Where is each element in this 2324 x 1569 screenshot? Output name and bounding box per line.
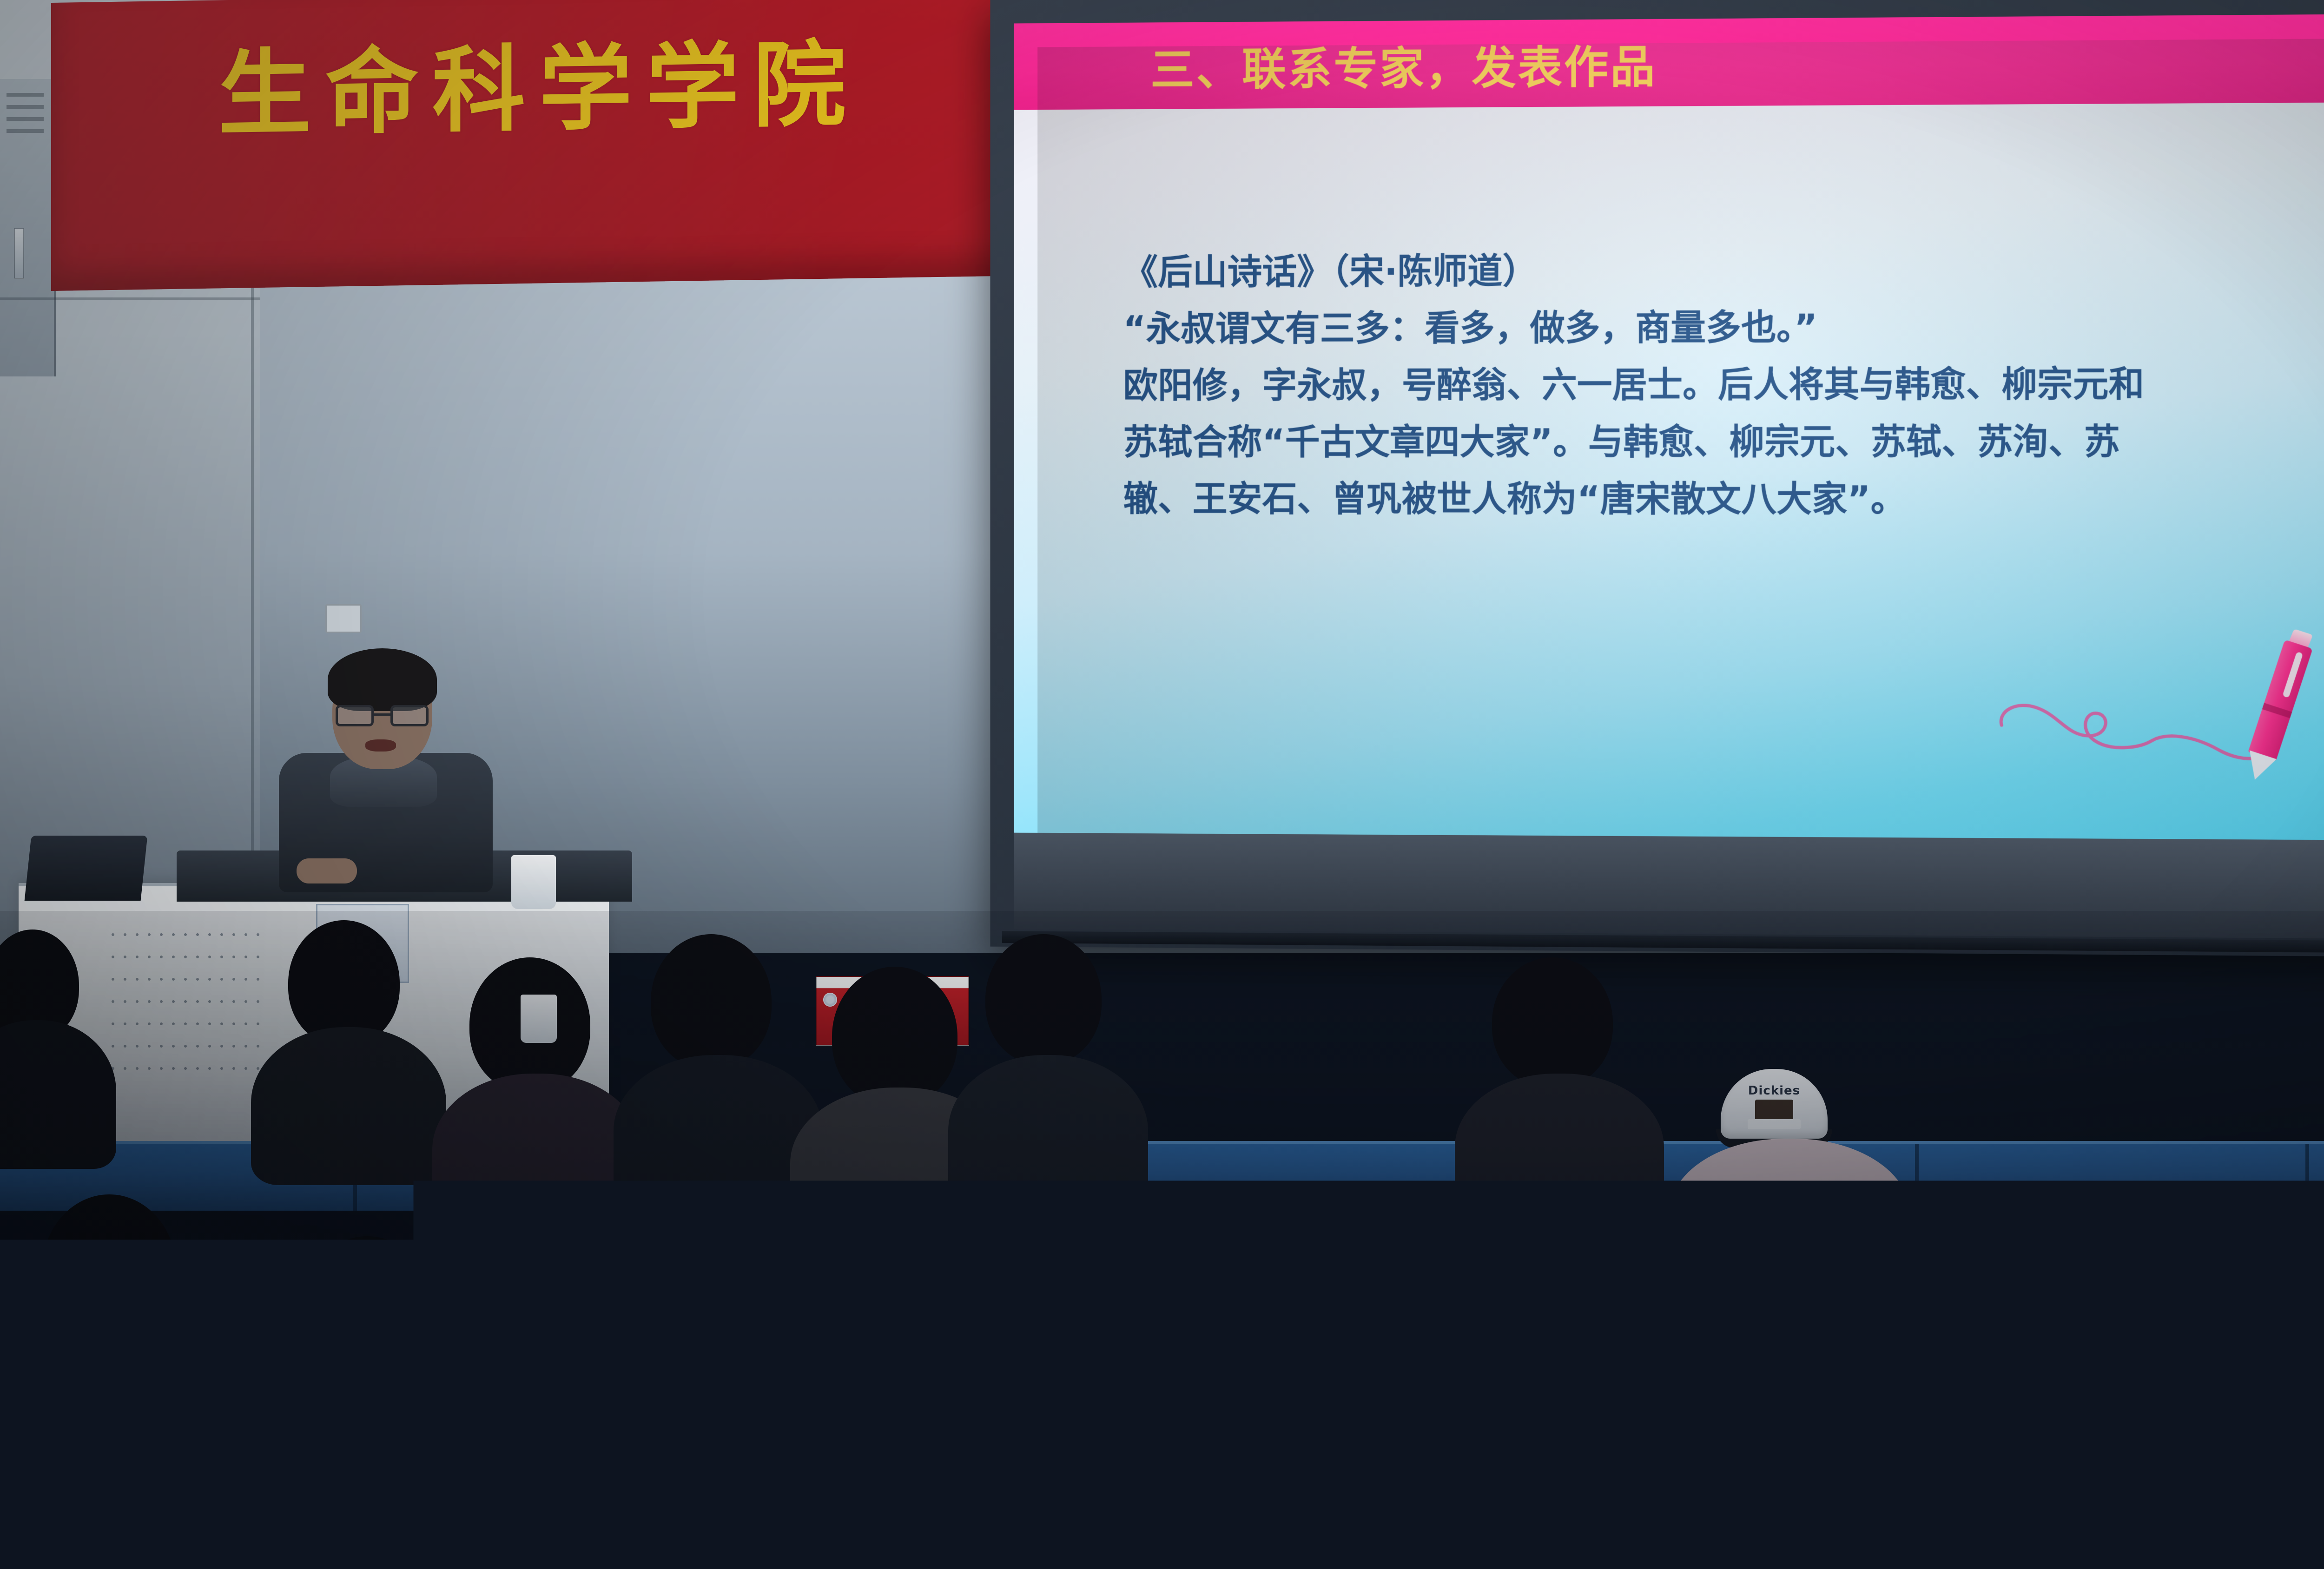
signature-scribble-icon [1997,670,2260,769]
projector-screen: 三、联系专家，发表作品 《后山诗话》（宋·陈师道） “永叔谓文有三多：看多，做多… [990,0,2324,957]
glasses-lens-right [390,705,429,726]
audience-head [1948,1199,2092,1362]
paper-cup-podium [511,855,556,909]
wall-socket [325,604,362,633]
slide-body-line-3: 欧阳修，字永叔，号醉翁、六一居士。后人将其与韩愈、柳宗元和 [1123,355,2324,414]
cap-strap [1748,1119,1801,1129]
slide-title: 三、联系专家，发表作品 [1150,30,1657,98]
audience-shoulders [251,1027,446,1185]
laptop[interactable] [25,836,148,901]
pen-body [2248,639,2313,761]
paper-cup [521,995,557,1043]
slide-body: 《后山诗话》（宋·陈师道） “永叔谓文有三多：看多，做多，商量多也。” 欧阳修，… [1123,239,2324,528]
audience-head [930,1218,1074,1380]
lecture-hall-photo: 生命科学学院 讲座 三、联系专家，发表作品 《后山诗话》（宋·陈师道） “永叔谓… [0,0,2324,1569]
slide-body-line-2: “永叔谓文有三多：看多，做多，商量多也。” [1123,297,2324,357]
speaker-hand [297,858,357,883]
slide-title-bar: 三、联系专家，发表作品 [1014,14,2324,110]
audience-shoulders [1455,1074,1664,1227]
cap-brand-label: Dickies [1748,1084,1800,1098]
wall-seam-horizontal [0,297,260,300]
audience-head [999,1380,1176,1566]
audience-shoulders [1669,1139,1910,1297]
slide-body-line-4: 苏轼合称“千古文章四大家”。与韩愈、柳宗元、苏轼、苏洵、苏 [1123,413,2324,470]
speaker-hair [328,648,437,711]
slide-body-line-5: 辙、王安石、曾巩被世人称为“唐宋散文八大家”。 [1123,470,2324,528]
audience-head [539,1190,679,1352]
banner-left-text: 生命科学学院 [218,9,860,154]
audience-shoulders [948,1055,1148,1213]
speaker-glasses-icon [336,705,429,727]
audience-head [1492,957,1613,1088]
speaker-mouth [365,739,396,752]
slide-body-line-1: 《后山诗话》（宋·陈师道） [1123,239,2324,300]
wall-door [0,79,56,376]
door-vent-icon [7,93,44,97]
audience-head [985,934,1102,1064]
audience-shoulders [493,1329,734,1534]
audience-head [1274,1246,1422,1413]
light-switch[interactable] [14,228,24,279]
paper-cup [1171,1255,1208,1303]
glasses-bridge [374,713,390,716]
slide-surface: 三、联系专家，发表作品 《后山诗话》（宋·陈师道） “永叔谓文有三多：看多，做多… [1014,14,2324,841]
glasses-lens-left [336,705,374,726]
audience-head [832,967,957,1106]
audience-shoulders [0,1020,116,1169]
baseball-cap: Dickies [1721,1069,1828,1139]
audience-area: Dickies [0,920,2324,1569]
audience-head [651,934,772,1069]
audience-head [1394,1390,1580,1569]
audience-head [260,1385,437,1569]
speaker-person [274,648,497,890]
